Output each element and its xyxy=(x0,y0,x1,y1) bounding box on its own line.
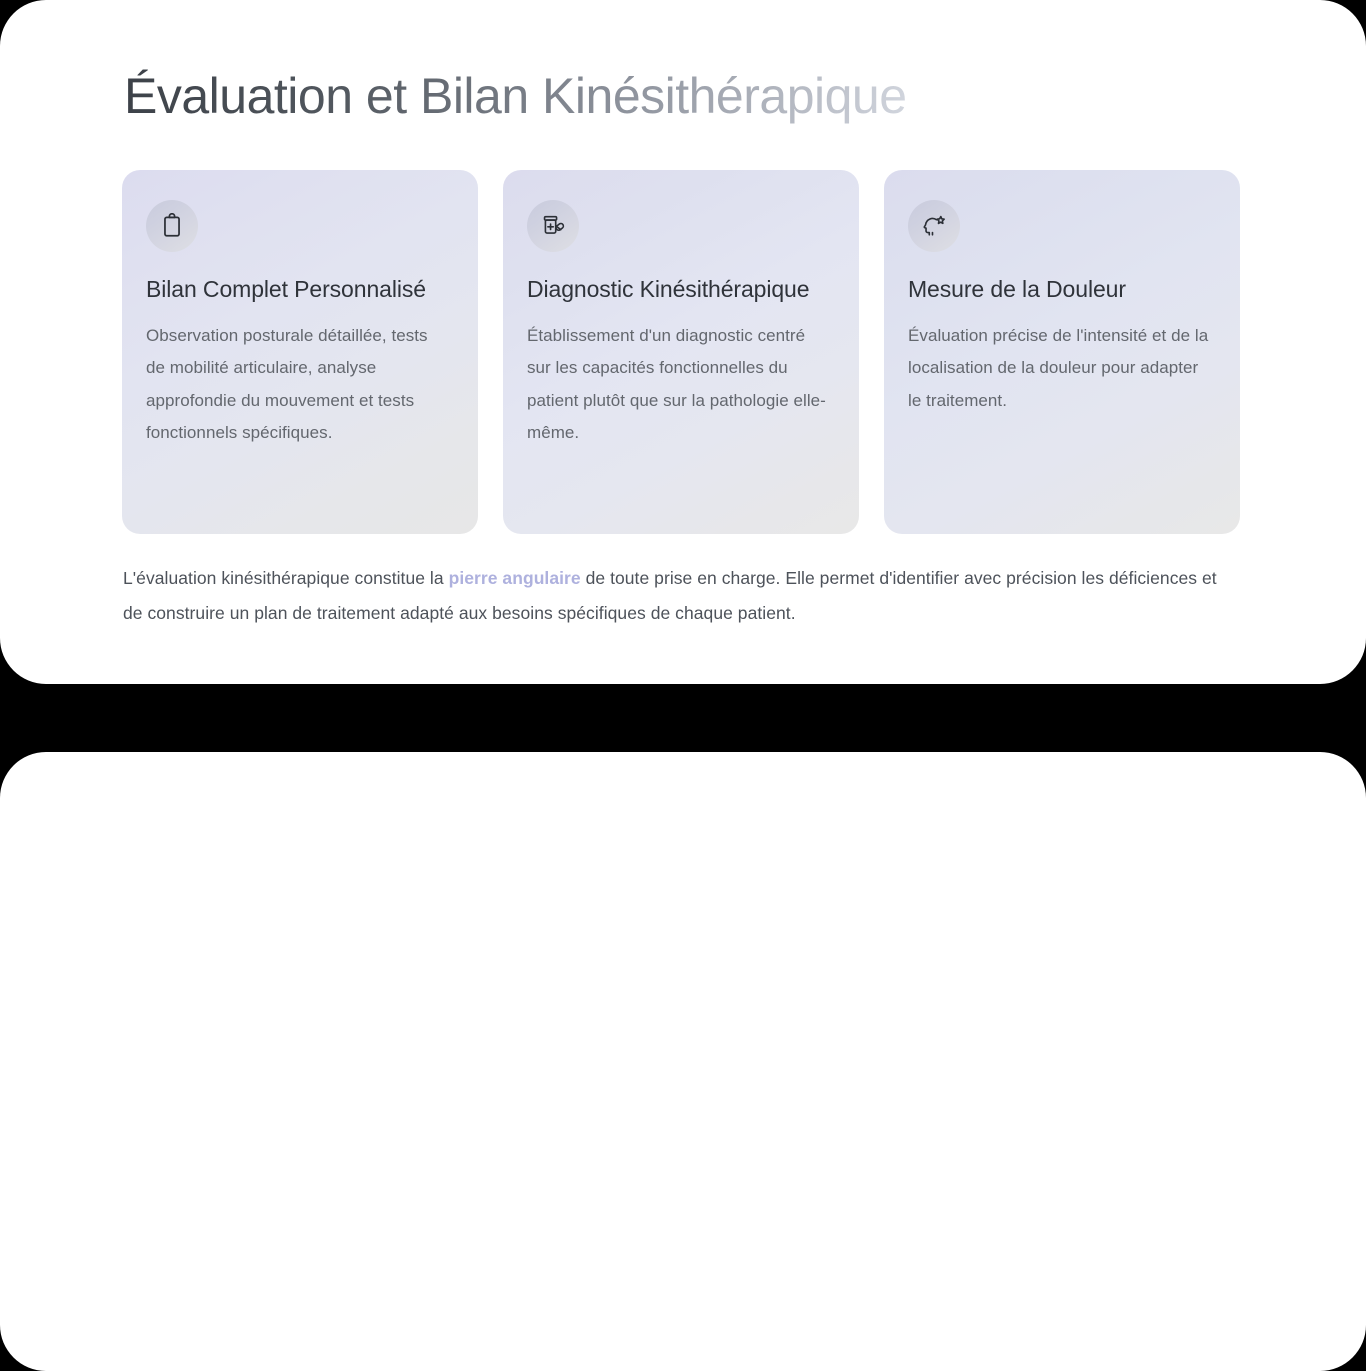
evaluation-card: Bilan Complet Personnalisé Observation p… xyxy=(122,170,478,534)
evaluation-summary-paragraph: L'évaluation kinésithérapique constitue … xyxy=(123,561,1228,631)
evaluation-card-body: Établissement d'un diagnostic centré sur… xyxy=(527,320,831,451)
paragraph-text-before: L'évaluation kinésithérapique constitue … xyxy=(123,568,449,588)
page-title-evaluation: Évaluation et Bilan Kinésithérapique xyxy=(124,68,907,124)
evaluation-card-title: Mesure de la Douleur xyxy=(908,274,1212,306)
highlighted-phrase: pierre angulaire xyxy=(449,568,581,588)
clipboard-icon xyxy=(146,200,198,252)
evaluation-card-body: Observation posturale détaillée, tests d… xyxy=(146,320,450,451)
evaluation-card-body: Évaluation précise de l'intensité et de … xyxy=(908,320,1212,418)
evaluation-card: Mesure de la Douleur Évaluation précise … xyxy=(884,170,1240,534)
panel-evaluation: Évaluation et Bilan Kinésithérapique Bil… xyxy=(0,0,1366,684)
panel-interventions: Interventions Thérapeutiques Techniques … xyxy=(0,752,1366,1371)
head-pain-icon xyxy=(908,200,960,252)
evaluation-card: Diagnostic Kinésithérapique Établissemen… xyxy=(503,170,859,534)
evaluation-card-title: Diagnostic Kinésithérapique xyxy=(527,274,831,306)
evaluation-card-title: Bilan Complet Personnalisé xyxy=(146,274,450,306)
evaluation-cards-row: Bilan Complet Personnalisé Observation p… xyxy=(122,170,1240,534)
page-root: Évaluation et Bilan Kinésithérapique Bil… xyxy=(0,0,1366,1371)
pill-bottle-icon xyxy=(527,200,579,252)
